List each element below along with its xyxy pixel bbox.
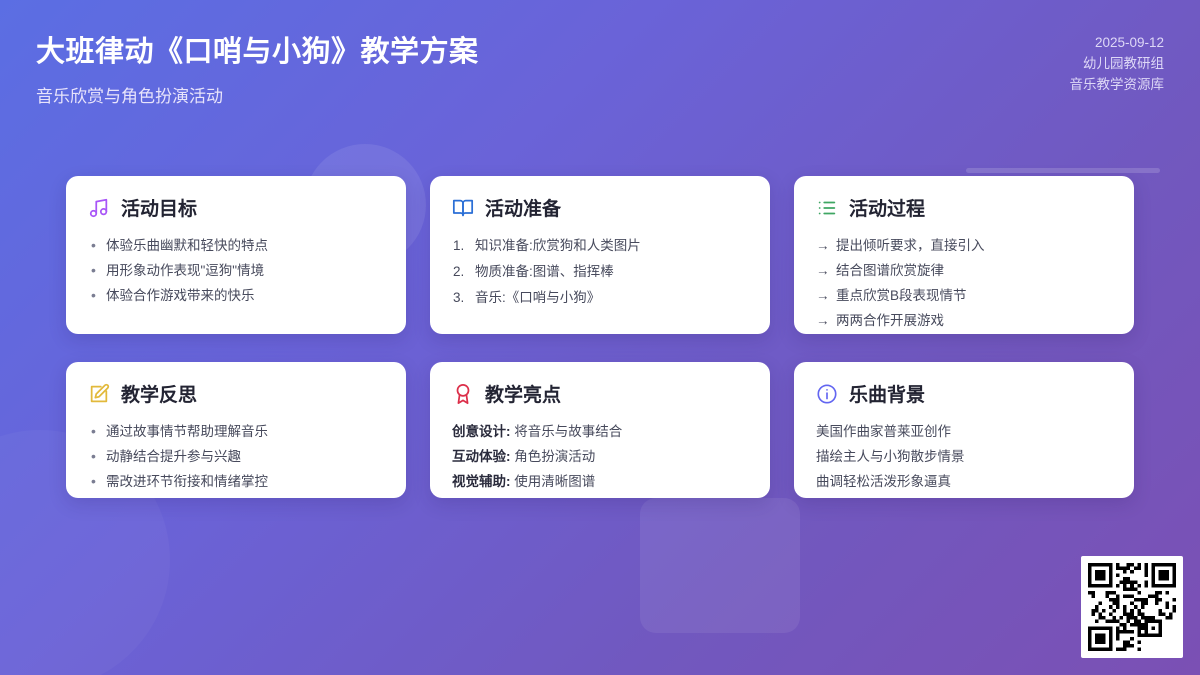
list-item: 美国作曲家普莱亚创作: [816, 419, 1112, 444]
list-item: 描绘主人与小狗散步情景: [816, 444, 1112, 469]
list-item: 通过故事情节帮助理解音乐: [88, 419, 384, 444]
list-item: 创意设计: 将音乐与故事结合: [452, 419, 748, 444]
list-item: 用形象动作表现"逗狗"情境: [88, 258, 384, 283]
card-music-background[interactable]: 乐曲背景 美国作曲家普莱亚创作 描绘主人与小狗散步情景 曲调轻松活泼形象逼真: [794, 362, 1134, 498]
page-title: 大班律动《口哨与小狗》教学方案: [36, 28, 479, 70]
card-title: 活动目标: [121, 194, 197, 221]
list-item: 曲调轻松活泼形象逼真: [816, 469, 1112, 494]
card-list: 通过故事情节帮助理解音乐 动静结合提升参与兴趣 需改进环节衔接和情绪掌控: [88, 419, 384, 494]
qr-code-image: [1088, 563, 1176, 651]
list-item: 互动体验: 角色扮演活动: [452, 444, 748, 469]
list-item: 重点欣赏B段表现情节: [816, 283, 1112, 308]
card-list: 提出倾听要求，直接引入 结合图谱欣赏旋律 重点欣赏B段表现情节 两两合作开展游戏: [816, 233, 1112, 333]
card-list: 创意设计: 将音乐与故事结合 互动体验: 角色扮演活动 视觉辅助: 使用清晰图谱: [452, 419, 748, 494]
card-header: 活动准备: [452, 194, 748, 221]
info-circle-icon: [816, 383, 838, 405]
header-meta: 2025-09-12 幼儿园教研组 音乐教学资源库: [1070, 32, 1165, 95]
music-note-icon: [88, 197, 110, 219]
card-title: 活动过程: [849, 194, 925, 221]
card-title: 教学反思: [121, 380, 197, 407]
list-item: 知识准备:欣赏狗和人类图片: [452, 233, 748, 259]
card-title: 教学亮点: [485, 380, 561, 407]
card-list: 美国作曲家普莱亚创作 描绘主人与小狗散步情景 曲调轻松活泼形象逼真: [816, 419, 1112, 494]
book-open-icon: [452, 197, 474, 219]
card-list: 知识准备:欣赏狗和人类图片 物质准备:图谱、指挥棒 音乐:《口哨与小狗》: [452, 233, 748, 311]
slide-canvas: 大班律动《口哨与小狗》教学方案 音乐欣赏与角色扮演活动 2025-09-12 幼…: [0, 0, 1200, 675]
card-header: 活动目标: [88, 194, 384, 221]
list-item: 视觉辅助: 使用清晰图谱: [452, 469, 748, 494]
kv-key: 视觉辅助:: [452, 474, 511, 489]
meta-org: 幼儿园教研组: [1070, 53, 1165, 74]
list-item: 物质准备:图谱、指挥棒: [452, 259, 748, 285]
card-title: 乐曲背景: [849, 380, 925, 407]
decorative-bar: [966, 168, 1160, 173]
meta-source: 音乐教学资源库: [1070, 74, 1165, 95]
card-activity-preparation[interactable]: 活动准备 知识准备:欣赏狗和人类图片 物质准备:图谱、指挥棒 音乐:《口哨与小狗…: [430, 176, 770, 334]
slide-header: 大班律动《口哨与小狗》教学方案 音乐欣赏与角色扮演活动 2025-09-12 幼…: [0, 0, 1200, 120]
kv-value: 角色扮演活动: [514, 449, 595, 464]
card-title: 活动准备: [485, 194, 561, 221]
list-item: 体验合作游戏带来的快乐: [88, 283, 384, 308]
card-teaching-highlights[interactable]: 教学亮点 创意设计: 将音乐与故事结合 互动体验: 角色扮演活动 视觉辅助: 使…: [430, 362, 770, 498]
list-item: 需改进环节衔接和情绪掌控: [88, 469, 384, 494]
meta-date: 2025-09-12: [1070, 32, 1165, 53]
list-item: 结合图谱欣赏旋律: [816, 258, 1112, 283]
card-header: 教学亮点: [452, 380, 748, 407]
list-item: 体验乐曲幽默和轻快的特点: [88, 233, 384, 258]
list-icon: [816, 197, 838, 219]
list-item: 提出倾听要求，直接引入: [816, 233, 1112, 258]
card-activity-goals[interactable]: 活动目标 体验乐曲幽默和轻快的特点 用形象动作表现"逗狗"情境 体验合作游戏带来…: [66, 176, 406, 334]
edit-square-icon: [88, 383, 110, 405]
award-ribbon-icon: [452, 383, 474, 405]
card-activity-process[interactable]: 活动过程 提出倾听要求，直接引入 结合图谱欣赏旋律 重点欣赏B段表现情节 两两合…: [794, 176, 1134, 334]
card-header: 教学反思: [88, 380, 384, 407]
card-header: 乐曲背景: [816, 380, 1112, 407]
kv-value: 将音乐与故事结合: [514, 424, 622, 439]
card-teaching-reflection[interactable]: 教学反思 通过故事情节帮助理解音乐 动静结合提升参与兴趣 需改进环节衔接和情绪掌…: [66, 362, 406, 498]
card-list: 体验乐曲幽默和轻快的特点 用形象动作表现"逗狗"情境 体验合作游戏带来的快乐: [88, 233, 384, 308]
card-header: 活动过程: [816, 194, 1112, 221]
kv-value: 使用清晰图谱: [514, 474, 595, 489]
page-subtitle: 音乐欣赏与角色扮演活动: [36, 82, 223, 107]
kv-key: 创意设计:: [452, 424, 511, 439]
list-item: 动静结合提升参与兴趣: [88, 444, 384, 469]
kv-key: 互动体验:: [452, 449, 511, 464]
decorative-rounded-rect: [640, 498, 800, 633]
qr-code[interactable]: [1081, 556, 1183, 658]
list-item: 音乐:《口哨与小狗》: [452, 285, 748, 311]
list-item: 两两合作开展游戏: [816, 308, 1112, 333]
